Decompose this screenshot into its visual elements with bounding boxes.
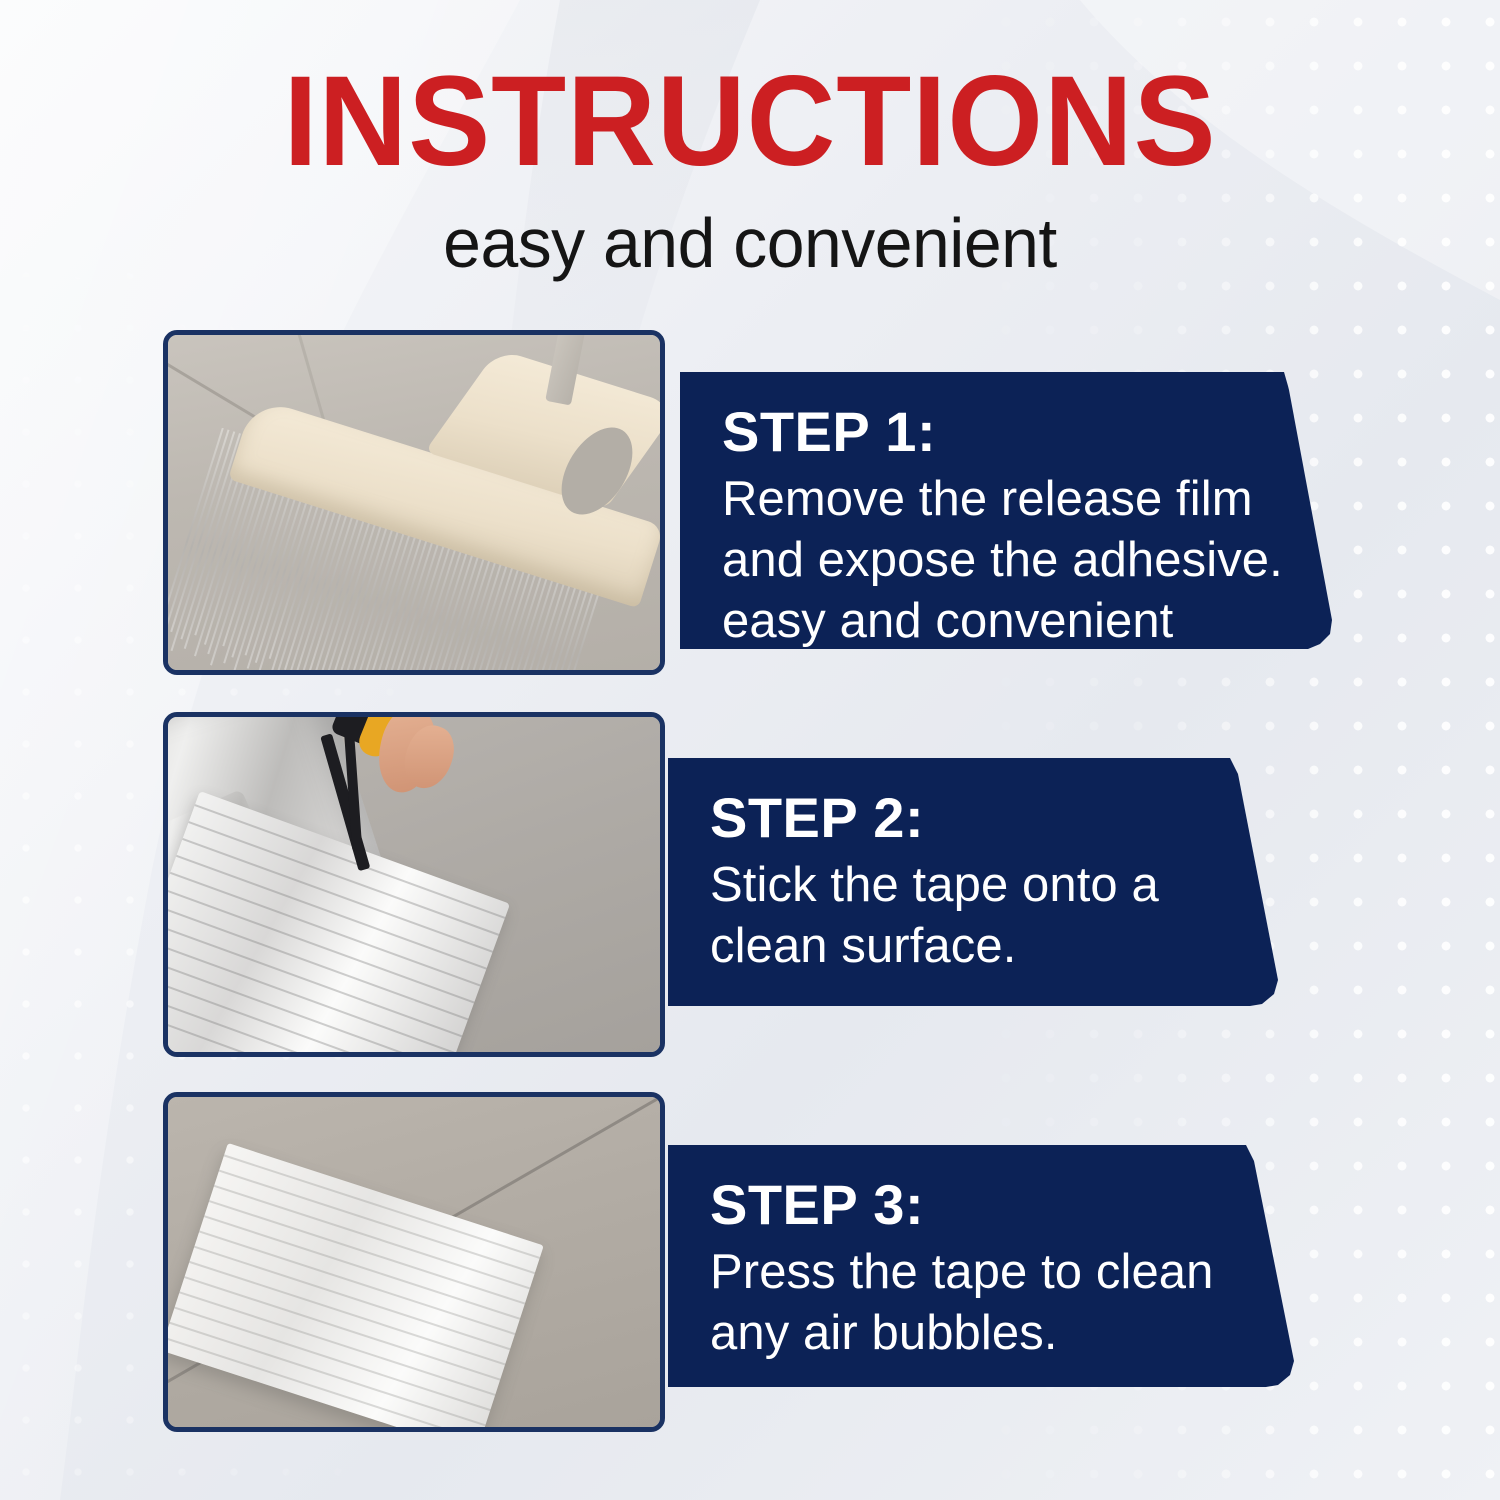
step-2-photo: [163, 712, 665, 1057]
step-1-body: Remove the release film and expose the a…: [722, 469, 1300, 651]
step-3-banner: STEP 3: Press the tape to clean any air …: [668, 1145, 1298, 1387]
step-3-photo: [163, 1092, 665, 1432]
page-subtitle: easy and convenient: [23, 208, 1478, 278]
page-title: INSTRUCTIONS: [30, 58, 1470, 186]
header: INSTRUCTIONS easy and convenient: [0, 58, 1500, 278]
step-1-banner: STEP 1: Remove the release film and expo…: [680, 372, 1340, 649]
step-1-photo: [163, 330, 665, 675]
instructions-infographic: INSTRUCTIONS easy and convenient: [0, 0, 1500, 1500]
step-2-body: Stick the tape onto a clean surface.: [710, 855, 1242, 977]
step-1-label: STEP 1:: [722, 402, 1300, 461]
step-2-banner: STEP 2: Stick the tape onto a clean surf…: [668, 758, 1282, 1006]
step-3-label: STEP 3:: [710, 1175, 1258, 1234]
step-3-body: Press the tape to clean any air bubbles.: [710, 1242, 1258, 1364]
step-2-label: STEP 2:: [710, 788, 1242, 847]
